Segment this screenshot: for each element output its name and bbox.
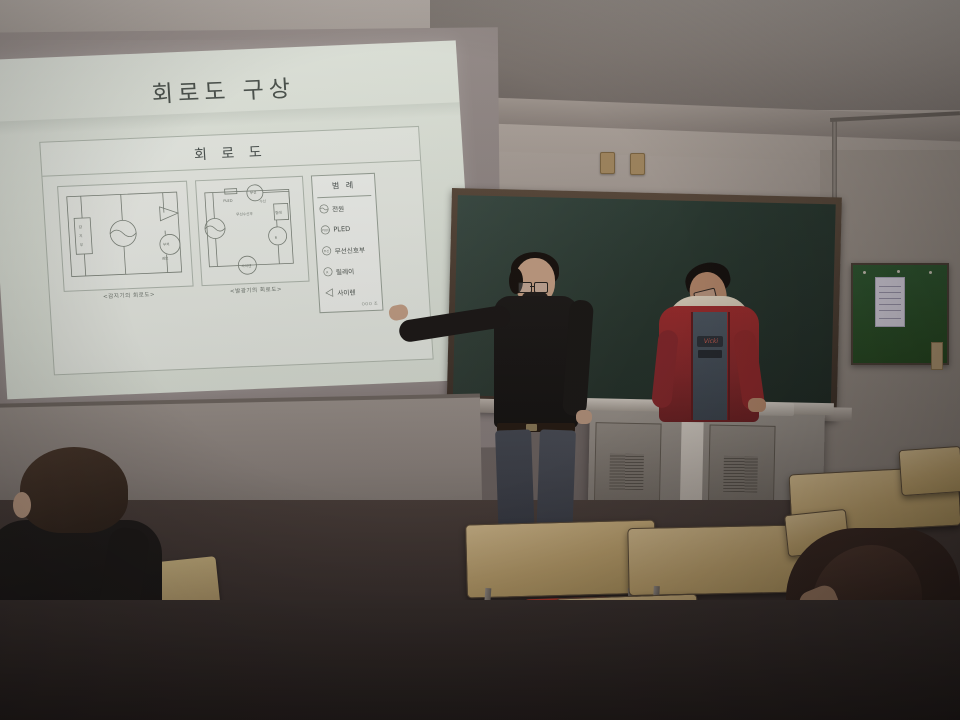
legend-panel: 범 례 전원 PLED PLED [311,173,384,313]
tshirt-logo-text: Vicki [699,336,723,347]
pin-icon [863,271,866,274]
emitter-caption: <발광기의 회로도> [203,284,309,296]
presenter-right-tshirt [693,312,727,420]
detector-caption: <감지기의 회로도> [65,288,193,301]
student-left-hair [20,447,128,533]
svg-text:R: R [326,270,328,274]
svg-text:부저: 부저 [163,241,170,246]
svg-text:수신: 수신 [259,198,266,203]
pin-icon [929,271,932,274]
svg-text:경보: 경보 [162,255,170,260]
student-left-ear [13,492,31,518]
svg-text:무선: 무선 [250,190,257,195]
circuit-diagram-detector: 감 지 부 부저 경보 <감지기의 회로도> [57,181,194,292]
legend-label: PLED [333,225,350,234]
classroom-photo: 회로도 구상 회 로 도 [0,0,960,720]
floor-foreground [0,600,960,720]
svg-text:PLED: PLED [322,228,331,232]
siren-icon [324,288,335,298]
wall-socket-icon [600,152,615,174]
legend-title: 범 례 [312,179,375,193]
legend-label: 전원 [332,203,345,213]
legend-item-wireless: 무신 무선신호부 [321,244,365,256]
slide-content-card: 회 로 도 [39,126,433,375]
tshirt-logo-sub [698,350,722,358]
legend-item-pled: PLED PLED [320,224,351,235]
legend-label: 사이렌 [337,287,356,298]
wireless-signal-icon: 무신 [321,246,332,256]
pin-icon [897,270,900,273]
presenter-right-hand [748,398,766,412]
svg-text:감: 감 [78,224,82,229]
detector-circuit-svg: 감 지 부 부저 경보 [58,182,192,291]
wall-card [931,342,943,370]
speaker-grille-icon [723,456,758,493]
ac-source-icon [319,204,330,214]
svg-text:PLED: PLED [223,199,233,203]
jacket-zip-left [691,312,693,420]
svg-text:부: 부 [80,242,84,247]
glasses-bridge [530,286,535,287]
presenter-left-hand [576,410,592,424]
legend-item-relay: R 릴레이 [323,266,355,277]
slide-credit: OOO 조 [361,301,378,308]
legend-item-siren: 사이렌 [324,287,356,298]
svg-text:무선수신부: 무선수신부 [236,211,254,217]
relay-icon: R [323,267,334,277]
legend-label: 무선신호부 [334,244,365,255]
legend-divider [317,195,371,198]
legend-label: 릴레이 [336,266,355,277]
svg-text:지: 지 [79,233,83,238]
speaker-grille-icon [609,453,644,490]
svg-text:무신: 무신 [323,248,329,253]
svg-text:사이렌: 사이렌 [241,263,252,268]
circuit-diagram-emitter: PLED 무선 수신 무선수신부 릴레 R 사이 [195,176,310,286]
notice-sheet [875,277,905,327]
svg-text:R: R [275,236,278,240]
svg-text:릴레: 릴레 [275,210,282,215]
pled-icon: PLED [320,225,331,235]
jacket-zip-right [728,312,730,420]
projected-slide: 회로도 구상 회 로 도 [0,40,478,409]
desk-row4-right[interactable] [898,446,960,496]
wall-switch-icon [630,153,645,175]
card-title: 회 로 도 [41,135,420,171]
emitter-circuit-svg: PLED 무선 수신 무선수신부 릴레 R 사이 [196,177,308,285]
legend-item-power: 전원 [319,203,345,214]
